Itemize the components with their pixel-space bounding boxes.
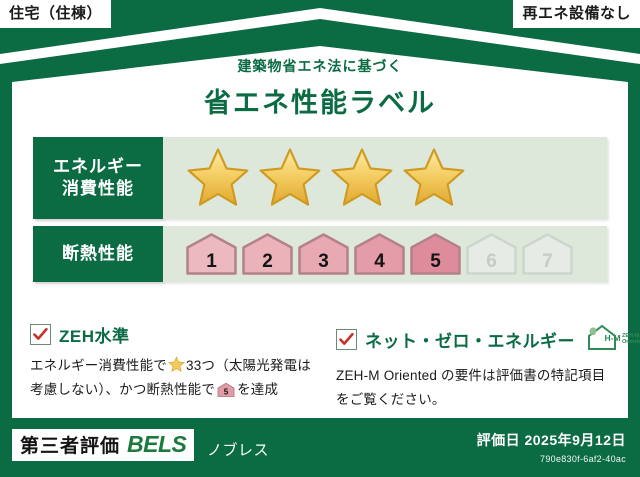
zeh-star-count: 3 [186, 358, 194, 373]
zeh-standard-title: ZEH水準 [59, 322, 130, 347]
building-type-tag: 住宅（住棟） [0, 0, 111, 28]
energy-key-line2: 消費性能 [62, 178, 134, 200]
insulation-level-number: 3 [297, 252, 350, 271]
energy-key-line1: エネルギー [53, 156, 143, 178]
performance-table: エネルギー 消費性能 断熱性能 1234567 [33, 137, 607, 289]
zeh-m-oriented-logo: H-M ZEH-M Oriented [585, 322, 640, 357]
net-zero-checkbox[interactable] [336, 329, 357, 350]
zeh-body-pre: エネルギー消費性能で [30, 358, 167, 373]
insulation-level-badge: 3 [297, 232, 350, 276]
insulation-level-badge: 7 [521, 232, 574, 276]
insulation-level-badge: 5 [409, 232, 462, 276]
zeh-standard-body: エネルギー消費性能で33つ（太陽光発電は考慮しない）、かつ断熱性能で5を達成 [30, 354, 320, 401]
insulation-level-badge: 6 [465, 232, 518, 276]
zeh-m-logo-main: H-M [605, 333, 621, 343]
insulation-performance-label-cell: 断熱性能 [33, 226, 163, 282]
star-icon [185, 146, 251, 210]
net-zero-energy-note: ネット・ゼロ・エネルギー H-M ZEH-M Oriented ZEH-M Or… [320, 322, 610, 411]
renewable-energy-tag: 再エネ設備なし [513, 0, 640, 28]
insulation-level-number: 7 [521, 252, 574, 271]
net-zero-body: ZEH-M Oriented の要件は評価書の特記項目をご覧ください。 [336, 364, 610, 411]
zeh-standard-heading: ZEH水準 [30, 322, 320, 347]
zeh-m-logo-sub2: Oriented [622, 339, 640, 345]
net-zero-heading: ネット・ゼロ・エネルギー H-M ZEH-M Oriented [336, 322, 610, 357]
evaluation-info: 評価日 2025年9月12日 790e830f-6af2-40ac [477, 430, 626, 464]
energy-performance-label-cell: エネルギー 消費性能 [33, 137, 163, 219]
evaluation-id: 790e830f-6af2-40ac [477, 454, 626, 464]
insulation-level-badge: 2 [241, 232, 294, 276]
svg-text:5: 5 [224, 387, 229, 396]
insulation-performance-row: 断熱性能 1234567 [33, 226, 607, 282]
insulation-level-badge: 1 [185, 232, 238, 276]
energy-performance-label: 住宅（住棟） 再エネ設備なし 建築物省エネ法に基づく 省エネ性能ラベル エネルギ… [0, 0, 640, 477]
check-icon [32, 326, 49, 343]
insulation-performance-value-cell: 1234567 [163, 226, 607, 282]
zeh-standard-note: ZEH水準 エネルギー消費性能で33つ（太陽光発電は考慮しない）、かつ断熱性能で… [30, 322, 320, 411]
energy-performance-row: エネルギー 消費性能 [33, 137, 607, 219]
star-icon [401, 146, 467, 210]
check-icon [338, 331, 355, 348]
zeh-standard-checkbox[interactable] [30, 324, 51, 345]
insulation-key-line1: 断熱性能 [62, 243, 134, 265]
label-footer: 第三者評価 BELS ノブレス 評価日 2025年9月12日 790e830f-… [0, 418, 640, 477]
star-icon [257, 146, 323, 210]
evaluation-date-value: 2025年9月12日 [524, 432, 626, 448]
insulation-level-number: 6 [465, 252, 518, 271]
star-icon [329, 146, 395, 210]
inline-level-badge-icon: 5 [217, 382, 235, 398]
star-rating [185, 146, 467, 210]
net-zero-title: ネット・ゼロ・エネルギー [365, 327, 575, 352]
bels-mark-text: BELS [127, 433, 186, 456]
insulation-level-badge: 4 [353, 232, 406, 276]
inline-star-icon [168, 356, 185, 373]
insulation-level-number: 5 [409, 252, 462, 271]
energy-performance-value-cell [163, 137, 607, 219]
evaluation-date-label: 評価日 [477, 432, 521, 448]
insulation-level-scale: 1234567 [185, 232, 574, 276]
insulation-level-number: 2 [241, 252, 294, 271]
criteria-notes: ZEH水準 エネルギー消費性能で33つ（太陽光発電は考慮しない）、かつ断熱性能で… [30, 322, 610, 411]
bels-badge: 第三者評価 BELS [12, 429, 194, 461]
evaluation-date: 評価日 2025年9月12日 [477, 430, 626, 450]
bels-label-text: 第三者評価 [20, 437, 120, 456]
owner-name: ノブレス [207, 439, 269, 460]
insulation-level-number: 1 [185, 252, 238, 271]
insulation-level-number: 4 [353, 252, 406, 271]
zeh-body-post: を達成 [237, 382, 278, 397]
